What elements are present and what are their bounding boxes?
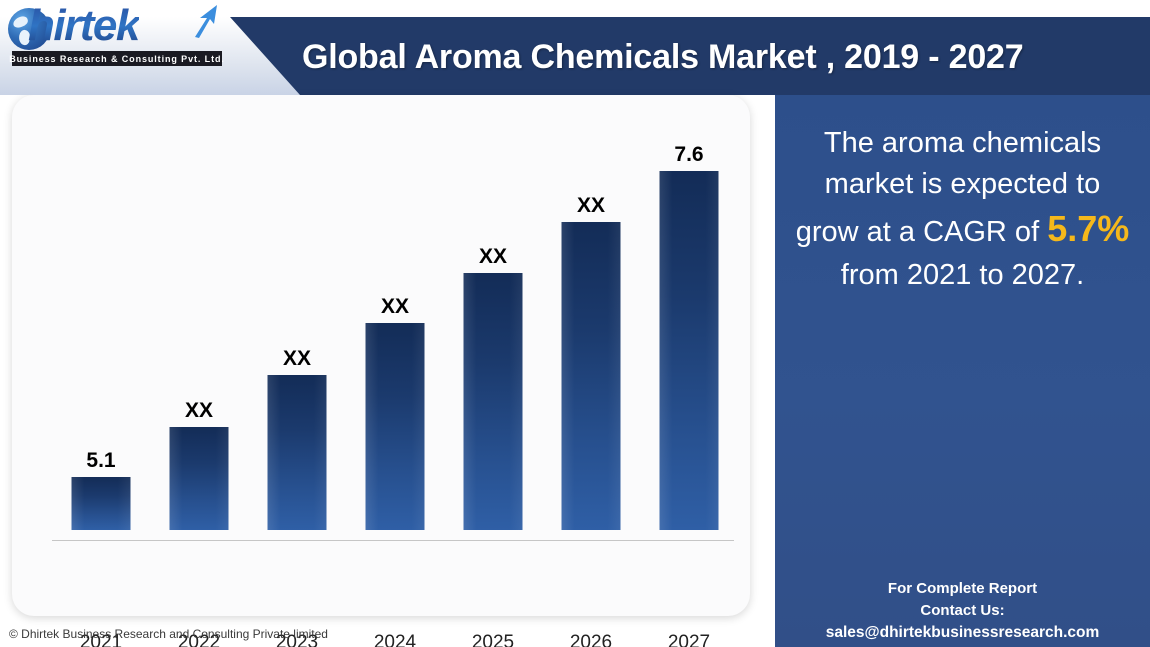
bar-value-label-2022: XX	[150, 399, 248, 423]
bar-2022[interactable]	[170, 427, 229, 530]
logo-wordmark: hirtek	[6, 2, 232, 54]
x-tick-2024: 2024	[346, 632, 444, 647]
company-logo[interactable]: hirtek Business Research & Consulting Pv…	[6, 2, 232, 70]
statement-text-after: from 2021 to 2027.	[841, 259, 1084, 291]
bar-value-label-2021: 5.1	[52, 449, 150, 473]
market-statement: The aroma chemicals market is expected t…	[795, 123, 1130, 295]
bar-2024[interactable]	[366, 323, 425, 530]
bar-chart-plot: 5.1 XX XX XX XX XX	[38, 105, 726, 530]
contact-line-1: For Complete Report	[775, 578, 1150, 600]
bar-slot-2026: XX	[542, 105, 640, 530]
contact-email[interactable]: sales@dhirtekbusinessresearch.com	[775, 622, 1150, 644]
x-tick-2027: 2027	[640, 632, 738, 647]
x-tick-2026: 2026	[542, 632, 640, 647]
bar-2027[interactable]	[660, 171, 719, 530]
bar-value-label-2023: XX	[248, 347, 346, 371]
side-panel: The aroma chemicals market is expected t…	[775, 95, 1150, 647]
infographic-root: Global Aroma Chemicals Market , 2019 - 2…	[0, 0, 1150, 647]
bar-slot-2023: XX	[248, 105, 346, 530]
bar-value-label-2025: XX	[444, 245, 542, 269]
bar-slot-2022: XX	[150, 105, 248, 530]
copyright-footer: © Dhirtek Business Research and Consulti…	[9, 627, 328, 641]
x-tick-2025: 2025	[444, 632, 542, 647]
logo-tagline: Business Research & Consulting Pvt. Ltd.	[12, 51, 222, 66]
bar-2021[interactable]	[72, 477, 131, 530]
bar-value-label-2027: 7.6	[640, 143, 738, 167]
chart-card: 5.1 XX XX XX XX XX	[12, 95, 750, 616]
bar-2025[interactable]	[464, 273, 523, 530]
bar-slot-2021: 5.1	[52, 105, 150, 530]
bar-slot-2027: 7.6	[640, 105, 738, 530]
bar-2026[interactable]	[562, 222, 621, 530]
logo-brand-text: hirtek	[28, 1, 139, 51]
page-title: Global Aroma Chemicals Market , 2019 - 2…	[302, 26, 1142, 88]
cagr-value: 5.7%	[1047, 208, 1129, 249]
bar-slot-2025: XX	[444, 105, 542, 530]
growth-arrow-icon	[192, 4, 220, 38]
bar-slot-2024: XX	[346, 105, 444, 530]
contact-line-2: Contact Us:	[775, 600, 1150, 622]
x-axis-line	[52, 540, 734, 541]
contact-block: For Complete Report Contact Us: sales@dh…	[775, 578, 1150, 644]
bar-value-label-2026: XX	[542, 194, 640, 218]
bar-2023[interactable]	[268, 375, 327, 530]
bar-value-label-2024: XX	[346, 295, 444, 319]
